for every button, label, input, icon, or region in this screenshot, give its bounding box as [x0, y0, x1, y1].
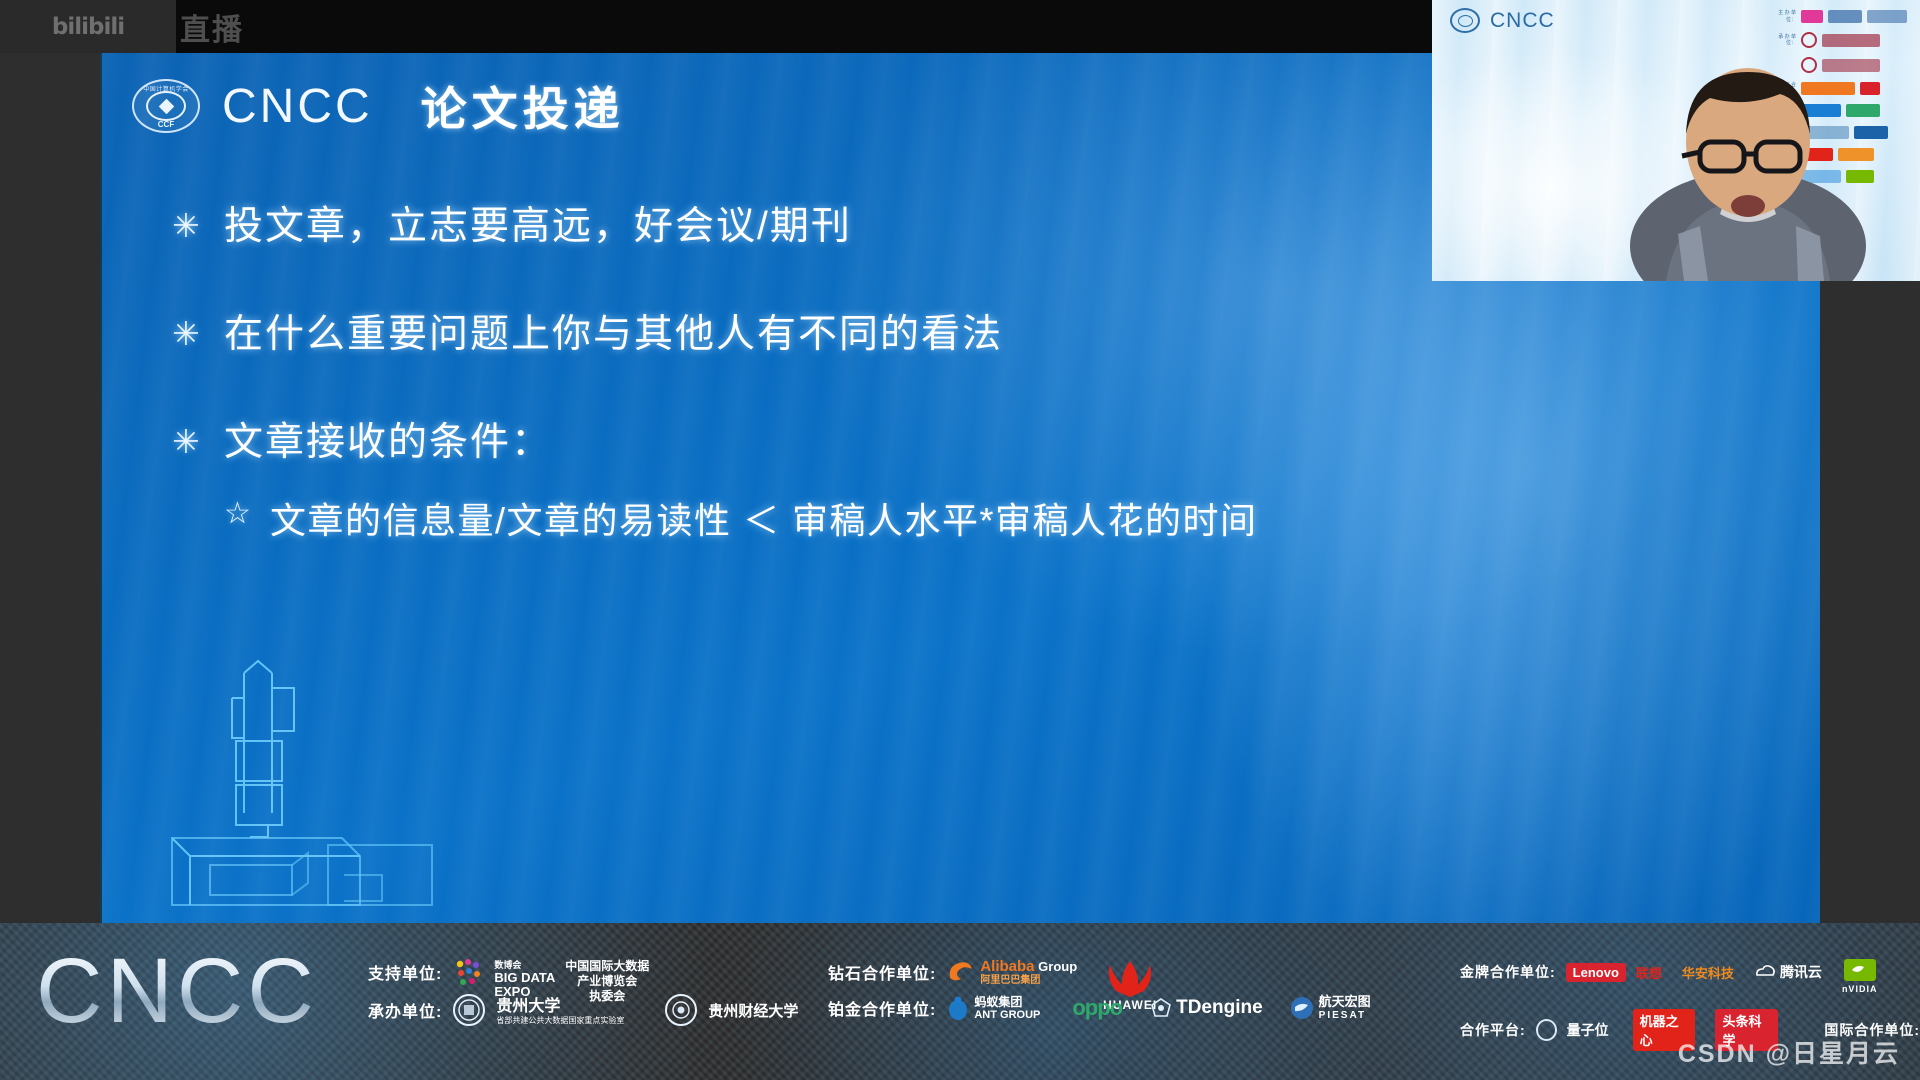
sponsor-group: 承 办 单 位： [1776, 32, 1914, 48]
ant-group-logo-icon: 蚂蚁集团 ANT GROUP [946, 995, 1040, 1021]
sponsor-row: 支持单位: 数博会BIG DATAEXPO 中国国际大数据产业博览会执委会 [368, 959, 798, 985]
bullet-marker-icon: ✳ [172, 419, 224, 458]
alibaba-logo-icon: Alibaba Group 阿里巴巴集团 [946, 959, 1077, 985]
china-bigdata-expo-wordmark: 中国国际大数据产业博览会执委会 [565, 959, 649, 985]
sponsor-row: 承办单位: 贵州大学省部共建公共大数据国家重点实验室 [368, 997, 798, 1023]
banner-cncc-wordmark: CNCC [36, 939, 318, 1044]
sponsor-group-label: 承 办 单 位： [1776, 34, 1796, 47]
sponsor-banner: CNCC 支持单位: 数博会BIG DATAEXPO 中国国际大数据产 [0, 923, 1920, 1080]
sponsor-row: 铂金合作单位: 蚂蚁集团 ANT GROUP oppo [828, 995, 1371, 1021]
seal-bottom-text: CCF [158, 120, 174, 129]
bullet-text: 文章接收的条件： [224, 419, 552, 468]
guizhou-finance-wordmark: 贵州财经大学 [708, 997, 798, 1023]
lenovo-logo-icon: Lenovo [1566, 963, 1626, 982]
bilibili-logo-icon: bilibili [52, 14, 124, 40]
huaan-tech-logo-icon: 华安科技 [1682, 963, 1734, 982]
bigdata-expo-wordmark: 数博会BIG DATAEXPO [494, 959, 555, 985]
bullet-item: ✳ 文章接收的条件： [172, 419, 1760, 468]
guizhou-university-wordmark: 贵州大学省部共建公共大数据国家重点实验室 [496, 997, 624, 1023]
lenovo-cn-wordmark: 联想 [1636, 959, 1662, 985]
oppo-logo-icon: oppo [1072, 995, 1122, 1021]
qbitai-wordmark: 量子位 [1567, 1017, 1609, 1043]
nvidia-logo-icon: nVIDIA [1842, 959, 1878, 985]
seal-ring-icon [1458, 15, 1473, 27]
slide-brand-wordmark: CNCC [222, 79, 373, 134]
guizhou-university-logo-icon [1822, 34, 1880, 47]
slide-header: 中国计算机学会 CCF CNCC 论文投递 [132, 73, 625, 139]
sub-bullet-item: ☆ 文章的信息量/文章的易读性 ＜ 审稿人水平*审稿人花的时间 [224, 492, 1760, 544]
ccf-seal-icon: 中国计算机学会 CCF [132, 79, 200, 133]
sponsor-group-label: 主 办 单 位： [1776, 10, 1796, 23]
webcam-brand: CNCC [1450, 8, 1555, 33]
sponsor-row-label: 合作平台: [1460, 1020, 1526, 1040]
guizhou-finance-seal-icon [664, 997, 698, 1023]
speaker-video-figure [1608, 56, 1888, 281]
speaker-webcam-overlay[interactable]: CNCC 主 办 单 位： 承 办 单 位： 钻 石 合作单位： [1432, 0, 1920, 281]
bullet-item: ✳ 在什么重要问题上你与其他人有不同的看法 [172, 311, 1760, 360]
sub-bullet-text: 文章的信息量/文章的易读性 ＜ 审稿人水平*审稿人花的时间 [270, 492, 1258, 544]
bigdata-expo-logo-icon [452, 959, 484, 985]
sponsor-row-label: 钻石合作单位: [828, 960, 936, 984]
qbitai-logo-icon [1536, 1019, 1557, 1041]
banner-left-column: 支持单位: 数博会BIG DATAEXPO 中国国际大数据产业博览会执委会 [368, 959, 798, 1029]
sponsor-row-label: 支持单位: [368, 960, 442, 984]
star-marker-icon: ☆ [224, 492, 270, 529]
bigdata-expo-text-icon [1828, 10, 1862, 23]
bullet-text: 在什么重要问题上你与其他人有不同的看法 [224, 311, 1003, 360]
seal-top-text: 中国计算机学会 [143, 84, 189, 93]
bullet-text: 投文章，立志要高远，好会议/期刊 [224, 203, 852, 252]
sponsor-group: 主 办 单 位： [1776, 10, 1914, 23]
huawei-logo-icon: HUAWEI [1103, 959, 1157, 985]
bilibili-logo-badge: bilibili [0, 0, 176, 53]
banner-middle-column: 钻石合作单位: Alibaba Group 阿里巴巴集团 HUAWE [828, 959, 1371, 1027]
ccf-seal-icon [1450, 8, 1480, 33]
guizhou-university-seal-icon [1801, 32, 1817, 48]
piesat-logo-icon: 航天宏图 PIESAT [1289, 995, 1371, 1021]
city-line-art-icon [132, 613, 452, 913]
sponsor-row-label: 金牌合作单位: [1460, 962, 1556, 982]
bilibili-live-label: 直播 [176, 0, 244, 53]
sponsor-row: 钻石合作单位: Alibaba Group 阿里巴巴集团 HUAWE [828, 959, 1371, 985]
sponsor-row-label: 承办单位: [368, 998, 442, 1022]
bullet-marker-icon: ✳ [172, 311, 224, 350]
tdengine-logo-icon: TDengine [1150, 995, 1263, 1021]
china-bigdata-expo-logo-icon [1867, 10, 1907, 23]
stream-viewport: bilibili 直播 中国计算机学会 CCF CNCC 论文投递 ✳ 投文章，… [0, 0, 1920, 1080]
bigdata-expo-logo-icon [1801, 10, 1823, 23]
bullet-marker-icon: ✳ [172, 203, 224, 242]
webcam-brand-wordmark: CNCC [1490, 9, 1555, 33]
seal-ring-icon [146, 91, 186, 121]
tencent-cloud-logo-icon: 腾讯云 [1754, 959, 1822, 985]
seal-dot-icon [158, 98, 174, 114]
sponsor-row: 金牌合作单位: Lenovo 联想 华安科技 腾讯云 nVIDIA [1460, 959, 1920, 985]
sponsor-row-label: 铂金合作单位: [828, 996, 936, 1020]
guizhou-university-seal-icon [452, 997, 486, 1023]
csdn-watermark: CSDN @日星月云 [1678, 1034, 1900, 1070]
slide-title: 论文投递 [421, 73, 625, 139]
